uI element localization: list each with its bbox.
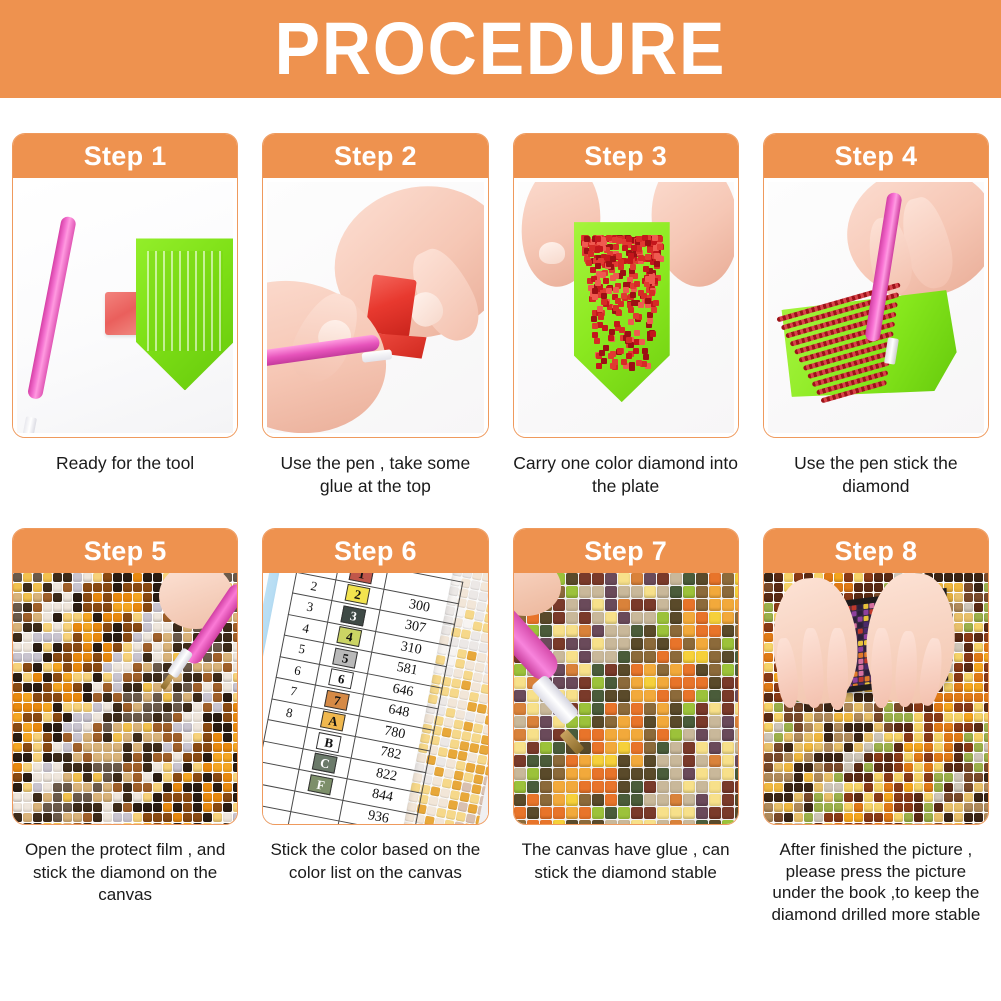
step-badge-6: Step 6 — [263, 529, 487, 573]
step-caption-6: Stick the color based on the color list … — [262, 839, 488, 884]
step-badge-5: Step 5 — [13, 529, 237, 573]
step-caption-1: Ready for the tool — [12, 452, 238, 475]
step-image-3 — [514, 178, 738, 437]
step-card-2[interactable]: Step 2 — [262, 133, 488, 438]
step-card-5[interactable]: Step 5 — [12, 528, 238, 825]
step-badge-3: Step 3 — [514, 134, 738, 178]
step-card-6[interactable]: Step 6 112230033307443105558166646776488… — [262, 528, 488, 825]
step-caption-3: Carry one color diamond into the plate — [513, 452, 739, 498]
page-header-banner: PROCEDURE — [0, 0, 1001, 98]
steps-grid: Step 1 Ready for the tool Step 2 — [0, 98, 1001, 926]
step-image-4 — [764, 178, 988, 437]
step-card-4[interactable]: Step 4 — [763, 133, 989, 438]
step-caption-7: The canvas have glue , can stick the dia… — [513, 839, 739, 884]
step-badge-8: Step 8 — [764, 529, 988, 573]
step-caption-8: After finished the picture , please pres… — [763, 839, 989, 925]
steps-row-top: Step 1 Ready for the tool Step 2 — [0, 98, 1001, 498]
step-image-7 — [514, 573, 738, 824]
step-badge-4: Step 4 — [764, 134, 988, 178]
step-cell-1: Step 1 Ready for the tool — [0, 133, 250, 498]
step-caption-5: Open the protect film , and stick the di… — [12, 839, 238, 906]
red-diamonds-icon — [580, 235, 662, 365]
step-badge-2: Step 2 — [263, 134, 487, 178]
step-image-5 — [13, 573, 237, 824]
step-image-2 — [263, 178, 487, 437]
step-cell-8: Step 8 After fini — [751, 528, 1001, 925]
page-title: PROCEDURE — [275, 12, 727, 86]
step-cell-7: Step 7 The canvas have glue , can stick … — [501, 528, 751, 925]
step-card-7[interactable]: Step 7 — [513, 528, 739, 825]
step-badge-1: Step 1 — [13, 134, 237, 178]
step-caption-4: Use the pen stick the diamond — [763, 452, 989, 498]
step-badge-7: Step 7 — [514, 529, 738, 573]
step-cell-3: Step 3 Carry one color diamond into the … — [501, 133, 751, 498]
step-image-6: 112230033307443105558166646776488A780B78… — [263, 573, 487, 824]
step-card-3[interactable]: Step 3 — [513, 133, 739, 438]
steps-row-bottom: Step 5 Open the protect film , and stick… — [0, 498, 1001, 925]
step-caption-2: Use the pen , take some glue at the top — [262, 452, 488, 498]
step-cell-2: Step 2 — [250, 133, 500, 498]
step-cell-6: Step 6 112230033307443105558166646776488… — [250, 528, 500, 925]
step-cell-5: Step 5 Open the protect film , and stick… — [0, 528, 250, 925]
step-image-8 — [764, 573, 988, 824]
step-card-8[interactable]: Step 8 — [763, 528, 989, 825]
step-cell-4: Step 4 Use the pen stick the diamond — [751, 133, 1001, 498]
step-image-1 — [13, 178, 237, 437]
step-card-1[interactable]: Step 1 — [12, 133, 238, 438]
